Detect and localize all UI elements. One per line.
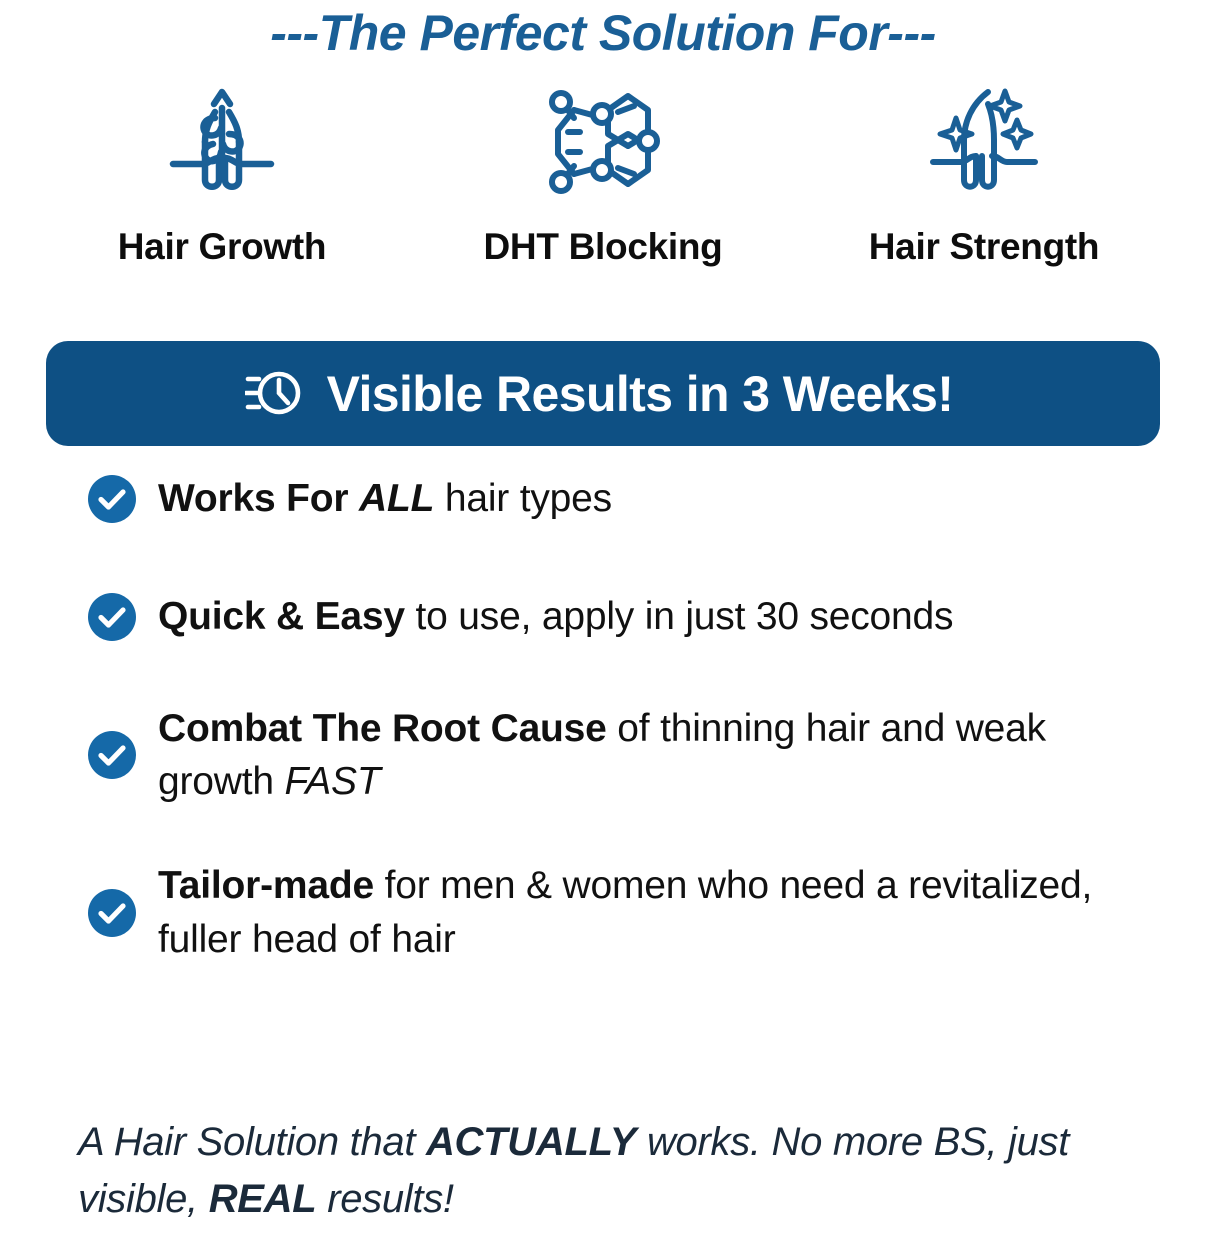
feature-label: Hair Growth [118, 226, 326, 268]
hair-strength-sparkle-follicle-icon [925, 82, 1043, 200]
check-circle-icon [88, 731, 136, 779]
list-item: Tailor-made for men & women who need a r… [0, 859, 1206, 967]
infographic-page: ---The Perfect Solution For--- [0, 0, 1206, 1254]
feature-dht-blocking: DHT Blocking [423, 82, 783, 268]
check-circle-icon [88, 889, 136, 937]
list-item-text: Works For ALL hair types [158, 472, 612, 526]
benefits-list: Works For ALL hair types Quick & Easy to… [0, 472, 1206, 967]
feature-icon-row: Hair Growth [0, 82, 1206, 282]
results-banner: Visible Results in 3 Weeks! [46, 341, 1160, 446]
list-item: Works For ALL hair types [0, 472, 1206, 526]
list-item-text: Combat The Root Cause of thinning hair a… [158, 702, 1166, 810]
fast-clock-icon [245, 366, 301, 422]
list-item: Quick & Easy to use, apply in just 30 se… [0, 590, 1206, 644]
closing-statement: A Hair Solution that ACTUALLY works. No … [78, 1114, 1118, 1228]
check-circle-icon [88, 593, 136, 641]
hair-growth-follicle-icon [163, 82, 281, 200]
feature-hair-strength: Hair Strength [804, 82, 1164, 268]
feature-hair-growth: Hair Growth [42, 82, 402, 268]
list-item: Combat The Root Cause of thinning hair a… [0, 702, 1206, 810]
check-circle-icon [88, 475, 136, 523]
feature-label: DHT Blocking [484, 226, 723, 268]
page-title: ---The Perfect Solution For--- [0, 4, 1206, 62]
feature-label: Hair Strength [869, 226, 1099, 268]
list-item-text: Tailor-made for men & women who need a r… [158, 859, 1166, 967]
list-item-text: Quick & Easy to use, apply in just 30 se… [158, 590, 953, 644]
dht-molecule-icon [544, 82, 662, 200]
results-banner-text: Visible Results in 3 Weeks! [327, 365, 954, 423]
